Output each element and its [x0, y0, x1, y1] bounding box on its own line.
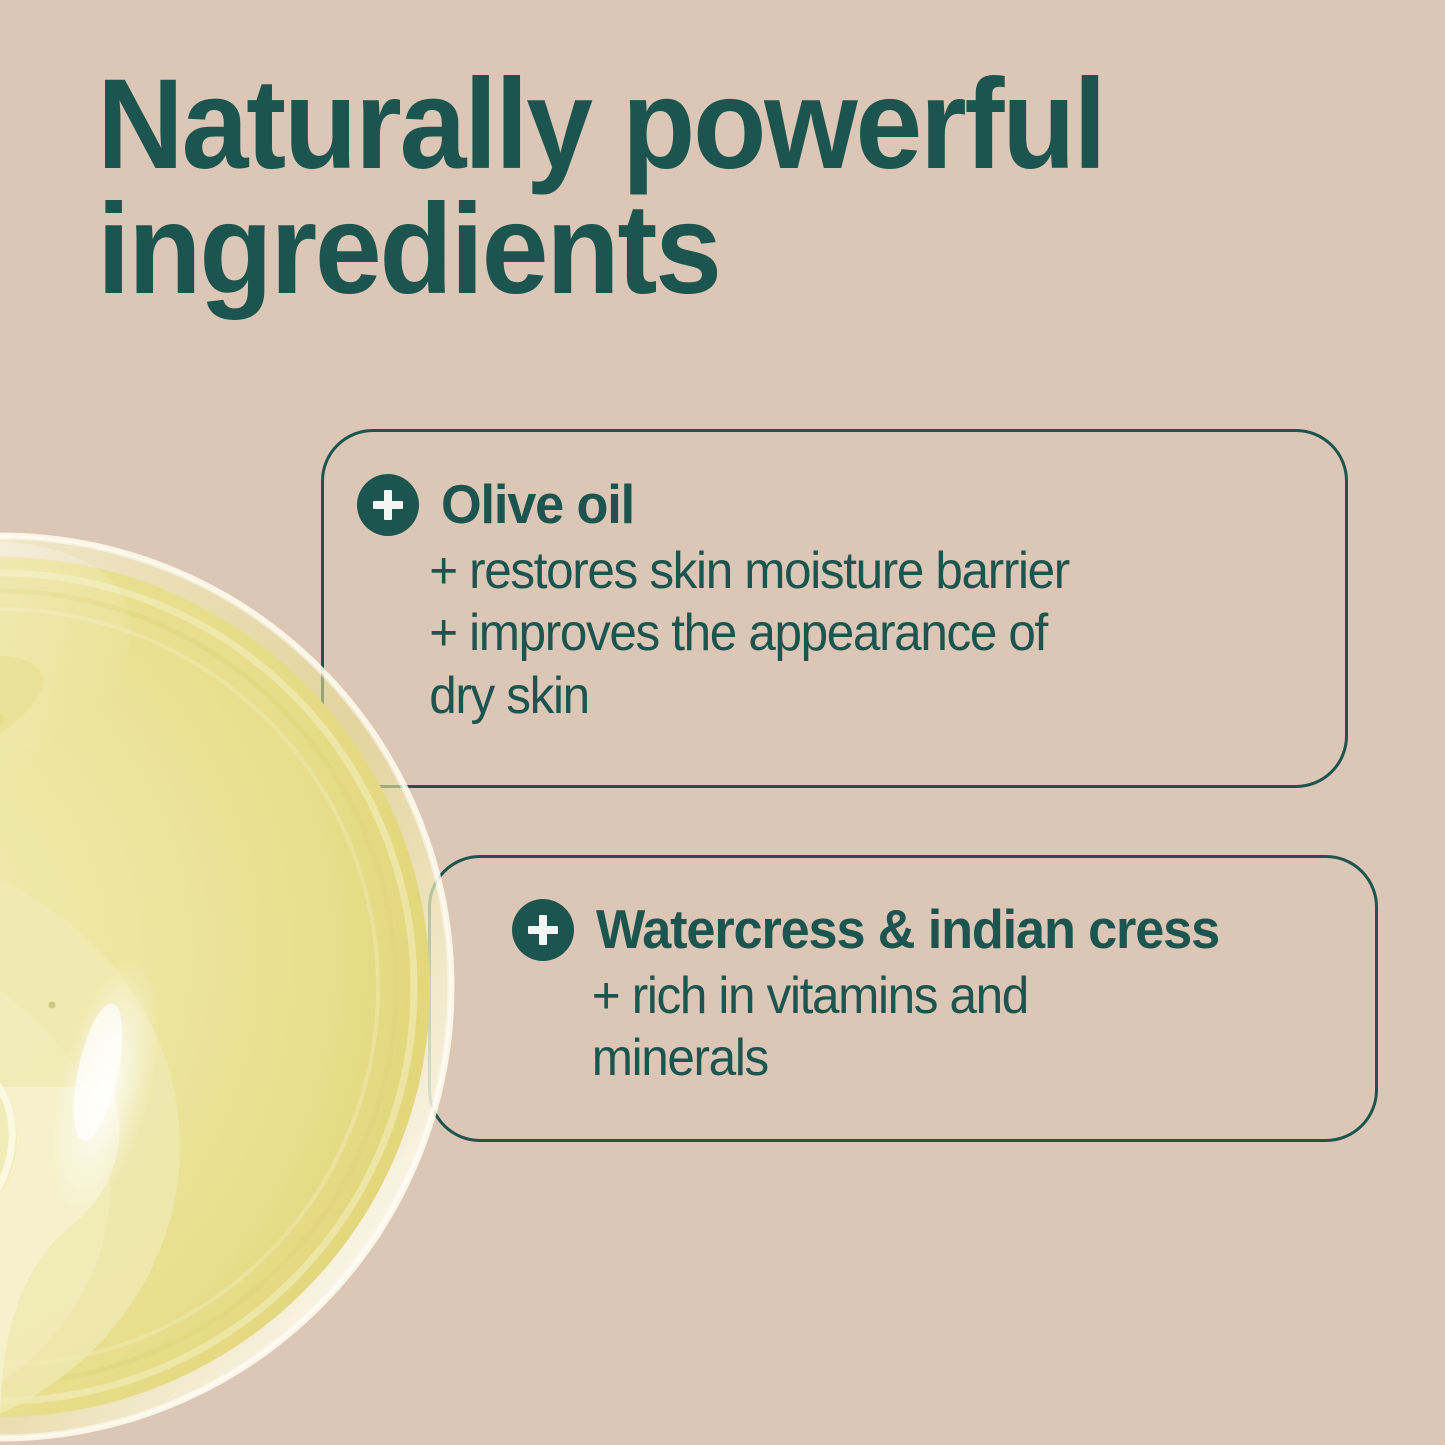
ingredient-heading-row: Watercress & indian cress [512, 899, 1387, 961]
ingredient-content-watercress: Watercress & indian cress + rich in vita… [512, 899, 1387, 1090]
ingredient-heading-row: Olive oil [357, 474, 1342, 536]
ingredient-benefits: + rich in vitamins and minerals [512, 965, 1343, 1090]
ingredient-title: Olive oil [441, 476, 634, 534]
ingredient-title: Watercress & indian cress [596, 901, 1219, 959]
ingredient-content-olive-oil: Olive oil + restores skin moisture barri… [357, 474, 1342, 727]
plus-icon [357, 474, 419, 536]
plus-icon [512, 899, 574, 961]
page-title: Naturally powerful ingredients [97, 62, 1187, 313]
infographic-canvas: Naturally powerful ingredients [0, 0, 1445, 1445]
ingredient-benefits: + restores skin moisture barrier + impro… [357, 540, 1293, 727]
